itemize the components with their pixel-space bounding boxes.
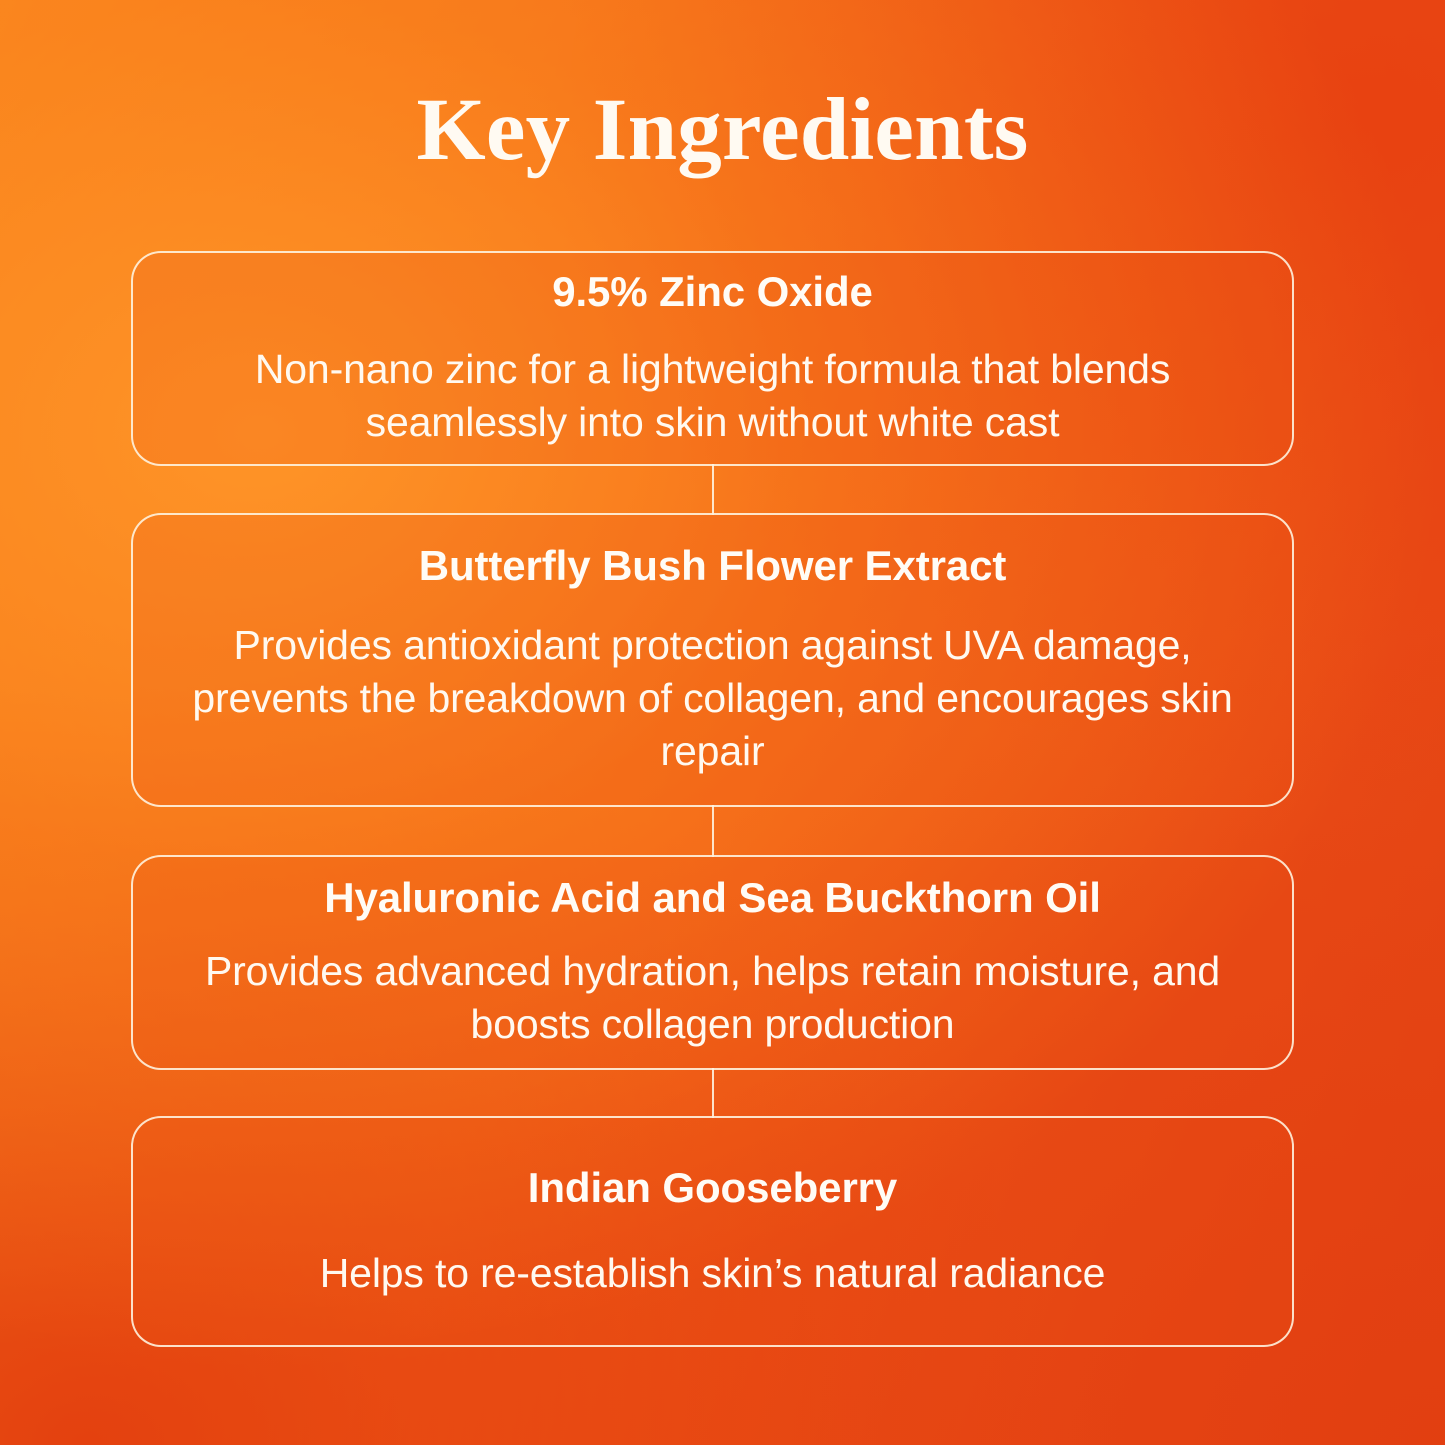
page-title: Key Ingredients: [0, 82, 1445, 178]
ingredient-description: Helps to re-establish skin’s natural rad…: [187, 1247, 1238, 1300]
ingredient-description: Provides antioxidant protection against …: [187, 619, 1238, 779]
ingredient-description: Non-nano zinc for a lightweight formula …: [187, 343, 1238, 450]
ingredient-description: Provides advanced hydration, helps retai…: [187, 945, 1238, 1052]
card-connector-2: [131, 807, 1294, 855]
ingredient-card-hyaluronic-acid-sea-buckthorn-oil: Hyaluronic Acid and Sea Buckthorn Oil Pr…: [131, 855, 1294, 1070]
ingredient-card-zinc-oxide: 9.5% Zinc Oxide Non-nano zinc for a ligh…: [131, 251, 1294, 466]
ingredient-card-stack: 9.5% Zinc Oxide Non-nano zinc for a ligh…: [131, 251, 1294, 1347]
key-ingredients-poster: Key Ingredients 9.5% Zinc Oxide Non-nano…: [0, 0, 1445, 1445]
ingredient-card-indian-gooseberry: Indian Gooseberry Helps to re-establish …: [131, 1116, 1294, 1347]
connector-line-icon: [712, 805, 714, 857]
ingredient-heading: 9.5% Zinc Oxide: [187, 267, 1238, 317]
ingredient-heading: Indian Gooseberry: [187, 1163, 1238, 1213]
connector-line-icon: [712, 464, 714, 515]
ingredient-heading: Butterfly Bush Flower Extract: [187, 541, 1238, 591]
ingredient-heading: Hyaluronic Acid and Sea Buckthorn Oil: [187, 873, 1238, 923]
card-connector-1: [131, 466, 1294, 513]
ingredient-card-butterfly-bush-flower-extract: Butterfly Bush Flower Extract Provides a…: [131, 513, 1294, 807]
card-connector-3: [131, 1070, 1294, 1116]
connector-line-icon: [712, 1068, 714, 1118]
